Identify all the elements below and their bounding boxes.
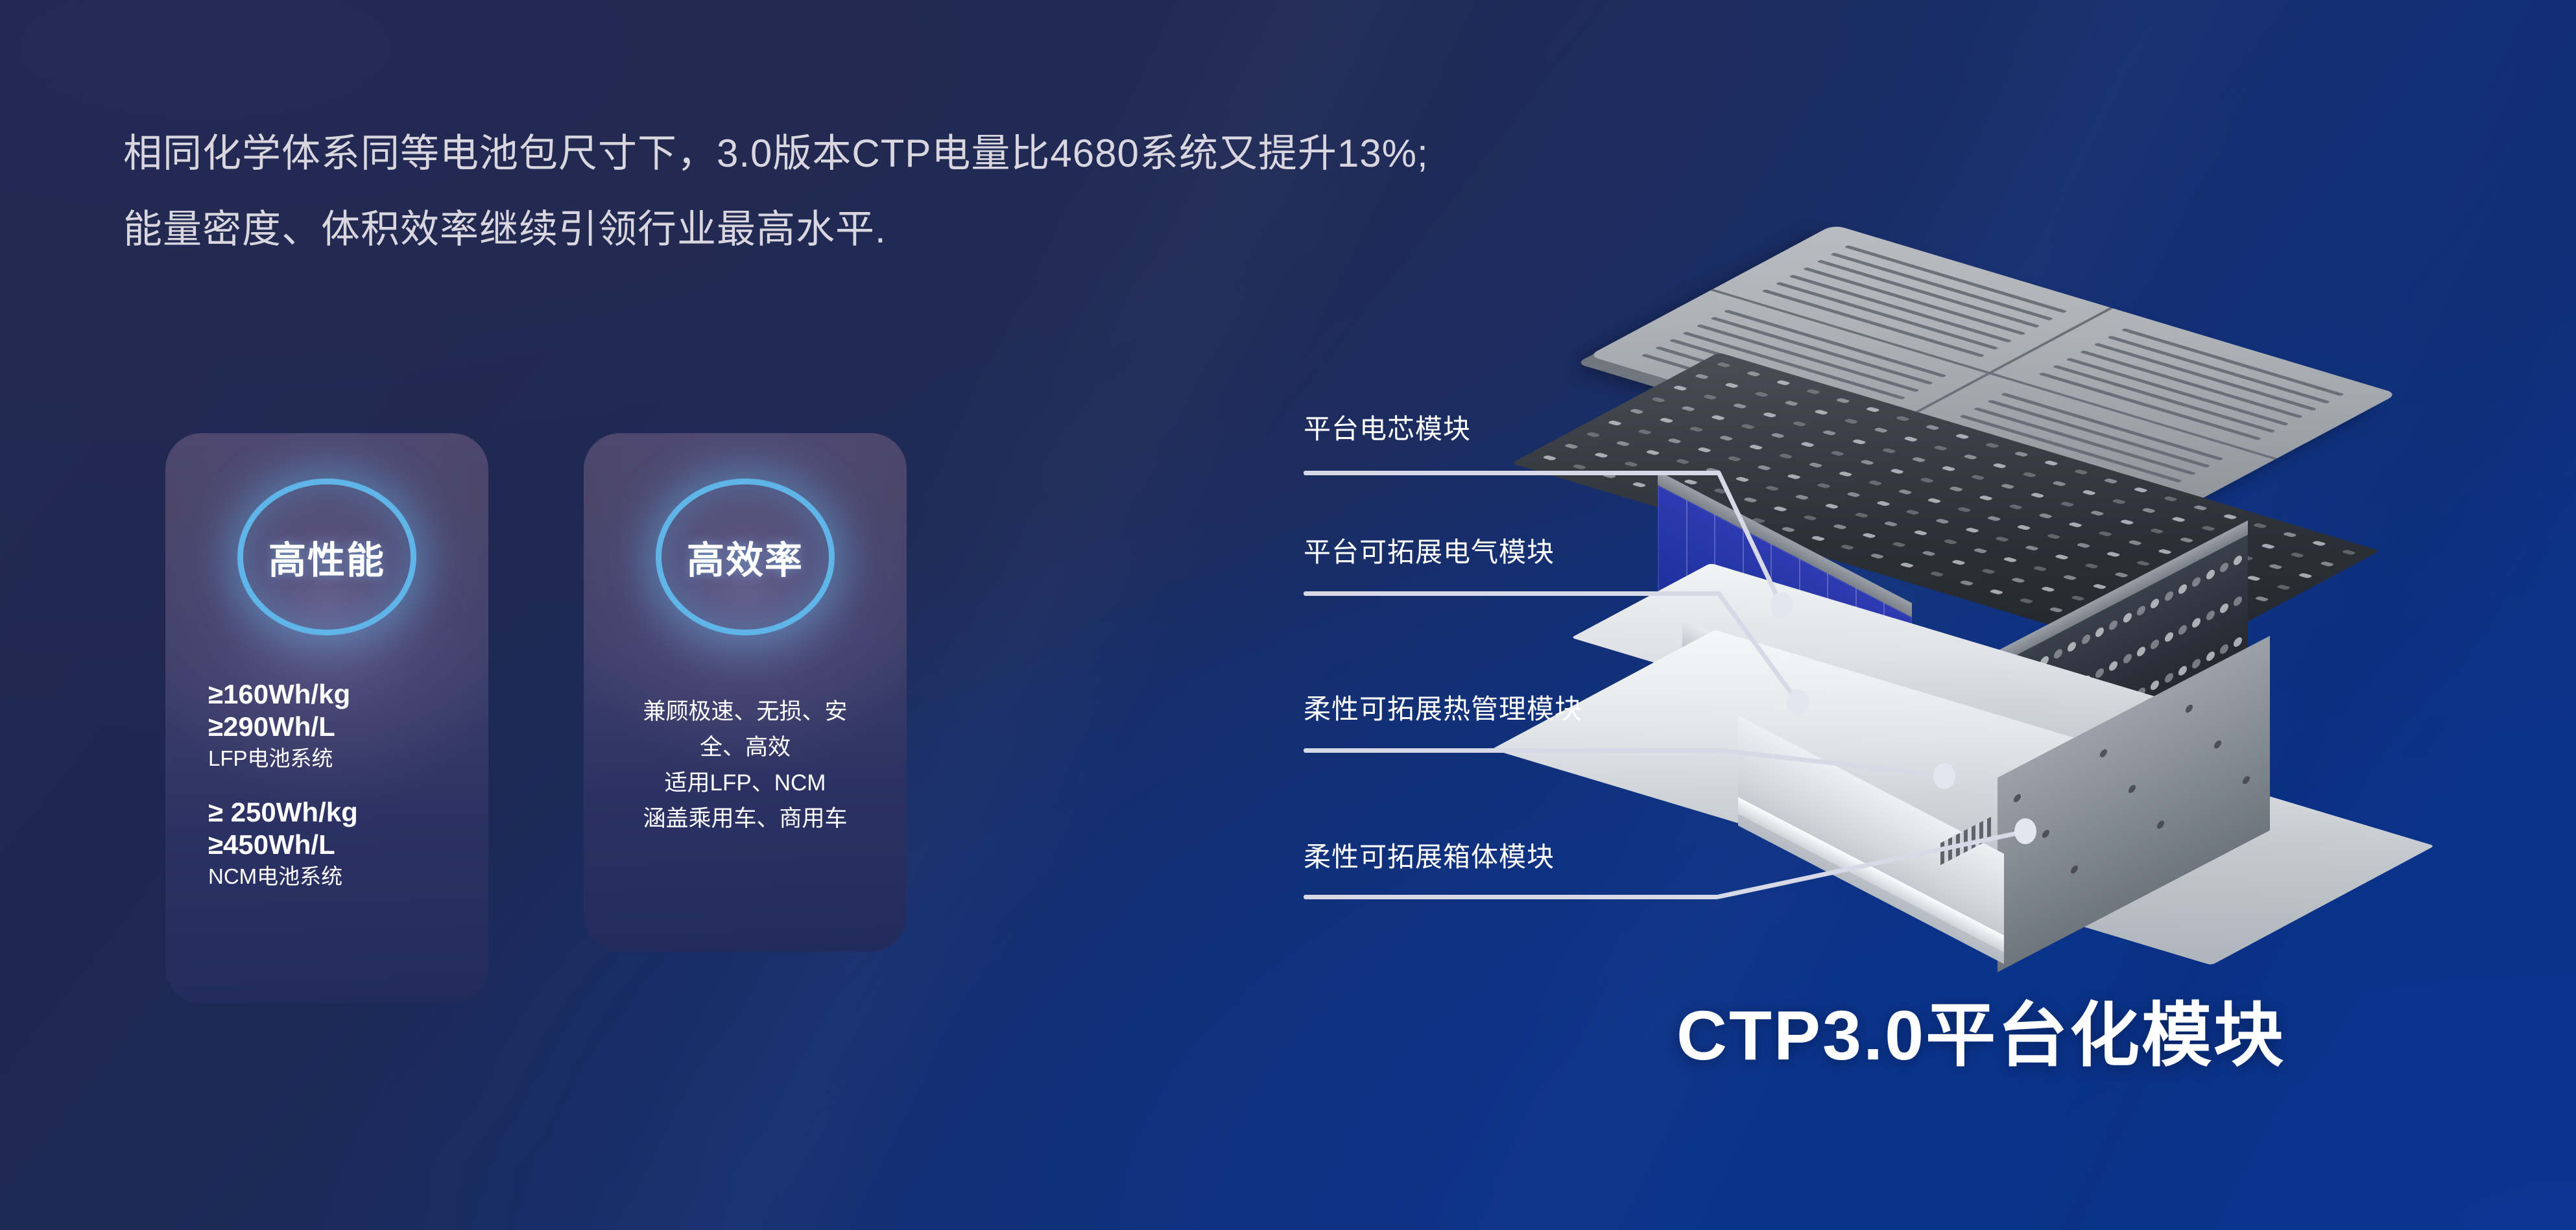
efficiency-bullet-1: 兼顾极速、无损、安 [584,694,907,729]
headline-line-1: 相同化学体系同等电池包尺寸下，3.0版本CTP电量比4680系统又提升13%; [123,115,1874,191]
card-performance-title: 高性能 [268,530,385,584]
feature-card-performance[interactable]: 高性能 ≥160Wh/kg ≥290Wh/L LFP电池系统 ≥ 250Wh/k… [165,433,488,1004]
callout-label-cell-module: 平台电芯模块 [1304,407,1471,447]
efficiency-bullet-3: 适用LFP、NCM [584,765,907,801]
exploded-battery-pack-illustration [1544,214,2464,999]
spec-lfp-wh-kg: ≥160Wh/kg [165,678,488,711]
spec-ncm-system: NCM电池系统 [165,861,488,892]
glow-ring-icon: 高性能 [237,479,416,635]
leader-rule-2 [1304,591,1719,596]
leader-rule-1 [1304,471,1719,475]
glow-ring-icon: 高效率 [656,479,835,635]
efficiency-bullet-2: 全、高效 [584,729,907,765]
callout-label-thermal-module: 柔性可拓展热管理模块 [1304,687,1582,727]
leader-rule-4 [1304,895,1719,899]
callout-label-electrical-module: 平台可拓展电气模块 [1304,530,1555,570]
slide-canvas: 相同化学体系同等电池包尺寸下，3.0版本CTP电量比4680系统又提升13%; … [0,0,2576,1230]
product-title: CTP3.0平台化模块 [1676,979,2285,1080]
ring-badge-wrap: 高效率 [584,463,907,651]
callout-label-case-module: 柔性可拓展箱体模块 [1304,835,1555,875]
spec-lfp-wh-l: ≥290Wh/L [165,711,488,743]
card-performance-body: ≥160Wh/kg ≥290Wh/L LFP电池系统 ≥ 250Wh/kg ≥4… [165,678,488,892]
leader-rule-3 [1304,748,1719,753]
spec-ncm-wh-kg: ≥ 250Wh/kg [165,796,488,829]
spec-divider [165,774,488,796]
spec-ncm-wh-l: ≥450Wh/L [165,829,488,861]
card-efficiency-body: 兼顾极速、无损、安 全、高效 适用LFP、NCM 涵盖乘用车、商用车 [584,694,907,836]
ring-badge-wrap: 高性能 [165,463,488,651]
spec-lfp-system: LFP电池系统 [165,743,488,774]
efficiency-bullet-4: 涵盖乘用车、商用车 [584,801,907,836]
feature-card-efficiency[interactable]: 高效率 兼顾极速、无损、安 全、高效 适用LFP、NCM 涵盖乘用车、商用车 [584,433,907,952]
card-efficiency-title: 高效率 [687,530,804,584]
